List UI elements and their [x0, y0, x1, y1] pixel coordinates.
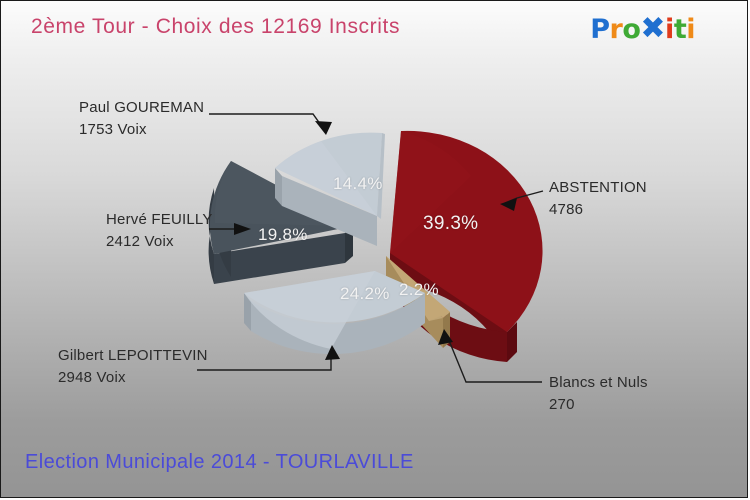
chart-canvas: 2ème Tour - Choix des 12169 Inscrits Pro…	[0, 0, 748, 498]
slice-percent-abstention: 39.3%	[423, 213, 478, 235]
callout-goureman-name: Paul GOUREMAN	[79, 99, 204, 116]
callout-abstention-votes: 4786	[549, 199, 647, 221]
callout-lepoittevin[interactable]: Gilbert LEPOITTEVIN 2948 Voix	[58, 345, 208, 389]
callout-lepoittevin-name: Gilbert LEPOITTEVIN	[58, 347, 208, 364]
callout-goureman[interactable]: Paul GOUREMAN 1753 Voix	[79, 97, 204, 141]
callout-lepoittevin-votes: 2948 Voix	[58, 367, 208, 389]
callout-feuilly[interactable]: Hervé FEUILLY 2412 Voix	[106, 209, 213, 253]
callout-feuilly-name: Hervé FEUILLY	[106, 211, 213, 228]
callout-feuilly-votes: 2412 Voix	[106, 231, 213, 253]
slice-percent-lepoittevin: 24.2%	[340, 284, 390, 304]
callout-goureman-votes: 1753 Voix	[79, 119, 204, 141]
chart-footer-caption: Election Municipale 2014 - TOURLAVILLE	[25, 451, 414, 474]
slice-percent-goureman: 14.4%	[333, 174, 383, 194]
slice-percent-feuilly: 19.8%	[258, 225, 308, 245]
callout-abstention[interactable]: ABSTENTION 4786	[549, 177, 647, 221]
slice-percent-blancs: 2.2%	[399, 280, 439, 300]
callout-abstention-name: ABSTENTION	[549, 179, 647, 196]
leader-goureman	[209, 114, 323, 128]
callout-blancs-et-nuls[interactable]: Blancs et Nuls 270	[549, 372, 648, 416]
callout-blancs-name: Blancs et Nuls	[549, 374, 648, 391]
callout-blancs-votes: 270	[549, 394, 648, 416]
leader-lepoittevin	[197, 354, 331, 370]
slice-lepoittevin[interactable]	[244, 271, 425, 354]
